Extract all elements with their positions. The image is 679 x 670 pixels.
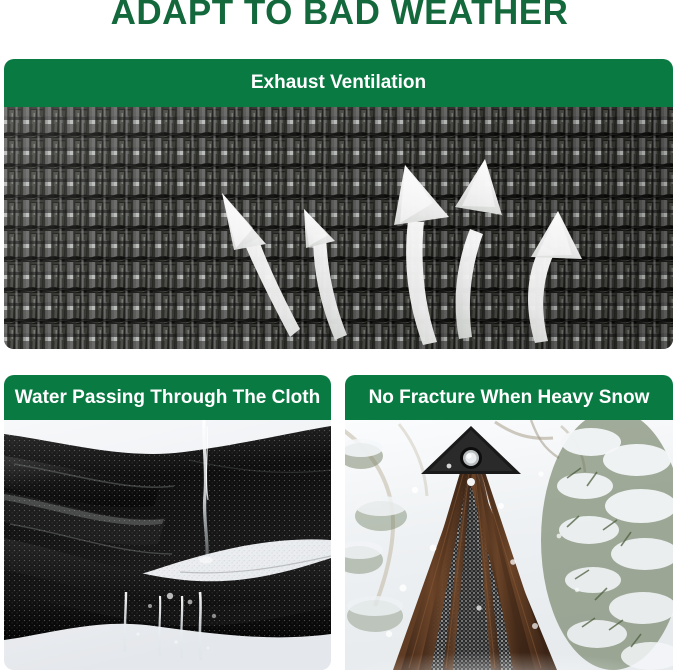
water-photo <box>4 420 331 670</box>
water-photo-svg <box>4 420 331 670</box>
panel-no-fracture-snow: No Fracture When Heavy Snow <box>345 375 673 670</box>
panel-header-no-fracture-snow: No Fracture When Heavy Snow <box>345 375 673 420</box>
mesh-photo-svg <box>4 107 673 349</box>
panel-water-passing: Water Passing Through The Cloth <box>4 375 331 670</box>
page-title: ADAPT TO BAD WEATHER <box>0 0 679 34</box>
snow-photo-svg <box>345 420 673 670</box>
mesh-photo <box>4 107 673 349</box>
snow-photo <box>345 420 673 670</box>
panel-header-water-passing: Water Passing Through The Cloth <box>4 375 331 420</box>
cloth-shape <box>4 426 331 640</box>
panel-header-exhaust-ventilation: Exhaust Ventilation <box>4 59 673 107</box>
panel-exhaust-ventilation: Exhaust Ventilation <box>4 59 673 349</box>
